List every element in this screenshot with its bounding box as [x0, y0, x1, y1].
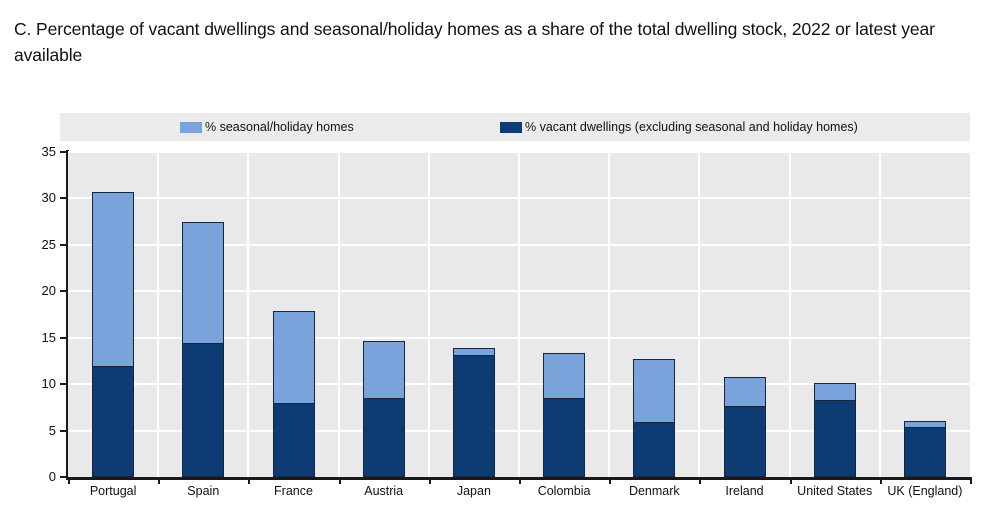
x-axis-label-japan: Japan [457, 484, 491, 498]
x-axis-tick [429, 477, 431, 484]
x-axis-label-austria: Austria [364, 484, 403, 498]
x-axis-label-united-states: United States [797, 484, 872, 498]
category-separator [247, 152, 249, 477]
x-axis-label-uk-england: UK (England) [887, 484, 962, 498]
bar-segment [543, 398, 585, 477]
x-axis-label-spain: Spain [187, 484, 219, 498]
y-axis-tick [60, 430, 68, 432]
y-axis-tick-label: 35 [10, 144, 56, 159]
bar-segment [633, 422, 675, 477]
x-axis-tick [790, 477, 792, 484]
y-axis-tick-label: 5 [10, 423, 56, 438]
bar-segment [363, 398, 405, 477]
bar-colombia[interactable] [543, 353, 585, 477]
bar-segment [273, 311, 315, 403]
bar-portugal[interactable] [92, 192, 134, 477]
bar-segment [453, 355, 495, 477]
y-axis-tick [60, 244, 68, 246]
bar-segment [182, 343, 224, 477]
bar-segment [724, 377, 766, 406]
category-separator [338, 152, 340, 477]
bar-denmark[interactable] [633, 359, 675, 477]
x-axis-tick [158, 477, 160, 484]
x-axis-label-france: France [274, 484, 313, 498]
bar-segment [273, 403, 315, 477]
x-axis-tick [68, 477, 70, 484]
bar-segment [182, 222, 224, 344]
category-separator [789, 152, 791, 477]
y-axis-tick [60, 151, 68, 153]
x-axis-tick [609, 477, 611, 484]
x-axis-label-portugal: Portugal [90, 484, 137, 498]
bar-segment [633, 359, 675, 422]
legend-swatch-vacant-icon [500, 122, 522, 133]
y-axis-tick-label: 15 [10, 330, 56, 345]
x-axis-tick [880, 477, 882, 484]
plot-area [68, 152, 970, 477]
x-axis-tick [339, 477, 341, 484]
y-axis-tick-label: 10 [10, 376, 56, 391]
bar-japan[interactable] [453, 348, 495, 477]
x-axis-tick [248, 477, 250, 484]
y-axis-tick-label: 0 [10, 469, 56, 484]
bar-france[interactable] [273, 311, 315, 477]
x-axis-tick [519, 477, 521, 484]
legend-swatch-seasonal-icon [180, 122, 202, 133]
x-axis-label-ireland: Ireland [725, 484, 763, 498]
bar-united-states[interactable] [814, 383, 856, 477]
y-axis-tick [60, 383, 68, 385]
y-axis-tick [60, 337, 68, 339]
bar-austria[interactable] [363, 341, 405, 477]
y-axis-tick-label: 30 [10, 190, 56, 205]
category-separator [698, 152, 700, 477]
bar-segment [92, 192, 134, 366]
chart-legend: % seasonal/holiday homes % vacant dwelli… [60, 113, 970, 141]
x-axis-label-denmark: Denmark [629, 484, 680, 498]
y-axis-tick [60, 290, 68, 292]
y-axis: 05101520253035 [0, 0, 56, 515]
legend-item-vacant-dwellings[interactable]: % vacant dwellings (excluding seasonal a… [500, 120, 858, 134]
page-title: C. Percentage of vacant dwellings and se… [14, 16, 974, 68]
x-axis-tick [699, 477, 701, 484]
x-axis-label-colombia: Colombia [538, 484, 591, 498]
category-separator [428, 152, 430, 477]
category-separator [518, 152, 520, 477]
bar-uk-england[interactable] [904, 421, 946, 477]
legend-label-vacant: % vacant dwellings (excluding seasonal a… [525, 120, 858, 134]
legend-label-seasonal: % seasonal/holiday homes [205, 120, 354, 134]
bar-segment [724, 406, 766, 478]
bar-segment [904, 427, 946, 477]
y-axis-tick [60, 197, 68, 199]
bar-segment [814, 400, 856, 477]
category-separator [608, 152, 610, 477]
y-axis-tick-label: 20 [10, 283, 56, 298]
bar-ireland[interactable] [724, 377, 766, 477]
category-separator [157, 152, 159, 477]
bar-segment [543, 353, 585, 399]
legend-item-seasonal-holiday-homes[interactable]: % seasonal/holiday homes [180, 120, 354, 134]
bar-segment [92, 366, 134, 477]
bar-segment [814, 383, 856, 400]
y-axis-tick-label: 25 [10, 237, 56, 252]
category-separator [879, 152, 881, 477]
y-axis-tick [60, 476, 68, 478]
bar-segment [363, 341, 405, 399]
x-axis-tick [970, 477, 972, 484]
bar-spain[interactable] [182, 222, 224, 477]
bar-segment [453, 348, 495, 355]
